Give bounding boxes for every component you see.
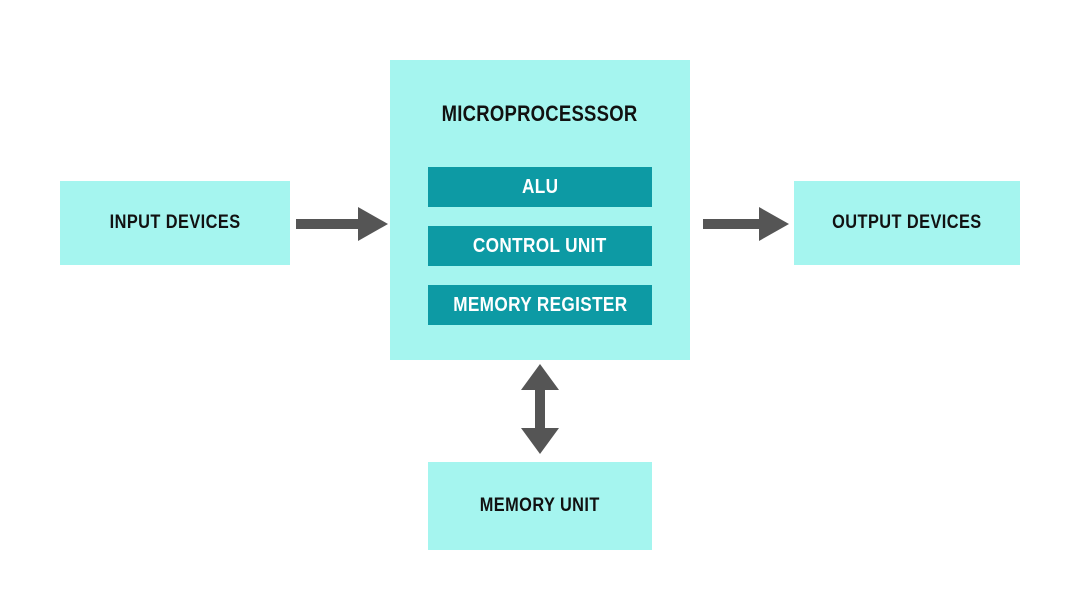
microprocessor-title-wrap: MICROPROCESSSOR — [390, 60, 690, 167]
arrow-microprocessor-memory-bidirectional-icon — [518, 364, 562, 454]
output-devices-block: OUTPUT DEVICES — [794, 181, 1020, 265]
arrow-microprocessor-to-output-icon — [703, 203, 789, 245]
microprocessor-unit-control-unit: CONTROL UNIT — [428, 226, 652, 266]
arrow-input-to-microprocessor-icon — [296, 203, 388, 245]
microprocessor-unit-memory-register: MEMORY REGISTER — [428, 285, 652, 325]
microprocessor-block: MICROPROCESSSOR ALU CONTROL UNIT MEMORY … — [390, 60, 690, 360]
memory-unit-block: MEMORY UNIT — [428, 462, 652, 550]
input-devices-block: INPUT DEVICES — [60, 181, 290, 265]
output-devices-label: OUTPUT DEVICES — [832, 212, 981, 234]
microprocessor-unit-control-unit-label: CONTROL UNIT — [473, 235, 607, 258]
diagram-canvas: INPUT DEVICES MICROPROCESSSOR ALU CONTRO… — [0, 0, 1080, 610]
memory-unit-label: MEMORY UNIT — [480, 495, 600, 517]
microprocessor-label: MICROPROCESSSOR — [442, 101, 638, 127]
input-devices-label: INPUT DEVICES — [110, 212, 241, 234]
microprocessor-unit-memory-register-label: MEMORY REGISTER — [453, 294, 627, 317]
microprocessor-unit-alu: ALU — [428, 167, 652, 207]
microprocessor-unit-alu-label: ALU — [522, 176, 558, 199]
